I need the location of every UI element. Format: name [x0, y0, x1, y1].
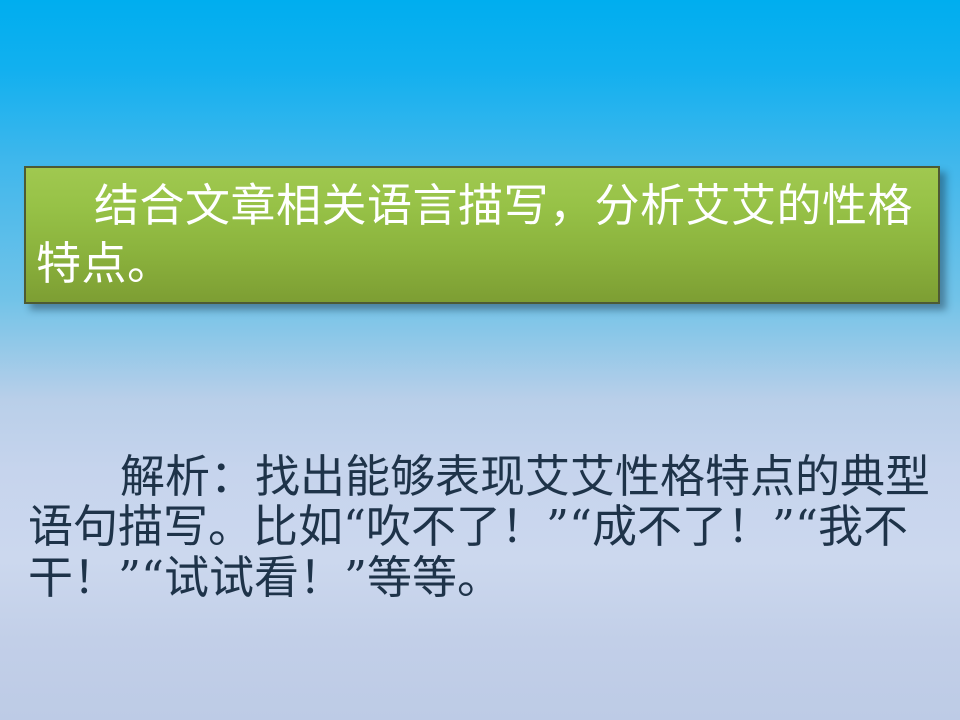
body-text-block: 解析：找出能够表现艾艾性格特点的典型语句描写。比如“吹不了！”“成不了！”“我不…	[28, 452, 936, 603]
title-banner: 结合文章相关语言描写，分析艾艾的性格特点。	[24, 166, 940, 304]
body-paragraph: 解析：找出能够表现艾艾性格特点的典型语句描写。比如“吹不了！”“成不了！”“我不…	[28, 452, 936, 603]
title-text: 结合文章相关语言描写，分析艾艾的性格特点。	[36, 177, 932, 292]
slide-canvas: 结合文章相关语言描写，分析艾艾的性格特点。 解析：找出能够表现艾艾性格特点的典型…	[0, 0, 960, 720]
